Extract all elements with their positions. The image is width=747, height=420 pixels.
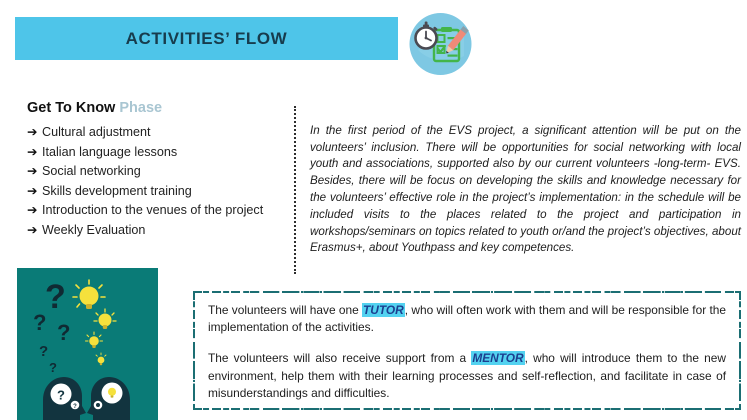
list-item-label: Italian language lessons xyxy=(42,143,177,163)
mentor-paragraph: The volunteers will also receive support… xyxy=(208,350,726,402)
mentor-term-highlight: MENTOR xyxy=(471,351,524,365)
thinking-heads-illustration: ? ? ? ? ? xyxy=(17,268,158,420)
svg-text:?: ? xyxy=(49,360,57,375)
list-item: ➔ Cultural adjustment xyxy=(27,123,292,143)
list-item-label: Skills development training xyxy=(42,182,192,202)
arrow-icon: ➔ xyxy=(27,201,42,221)
svg-text:?: ? xyxy=(73,404,77,410)
mentor-lead-text: The volunteers will also receive support… xyxy=(208,351,471,365)
arrow-icon: ➔ xyxy=(27,182,42,202)
list-item: ➔ Weekly Evaluation xyxy=(27,221,292,241)
list-item-label: Weekly Evaluation xyxy=(42,221,145,241)
arrow-icon: ➔ xyxy=(27,143,42,163)
tutor-lead-text: The volunteers will have one xyxy=(208,303,362,317)
svg-text:?: ? xyxy=(57,388,65,403)
stopwatch-checklist-pencil-icon xyxy=(404,6,477,79)
phase-heading: Get To Know Phase xyxy=(27,100,292,117)
description-block: In the first period of the EVS project, … xyxy=(294,106,741,274)
list-item-label: Cultural adjustment xyxy=(42,123,151,143)
description-text: In the first period of the EVS project, … xyxy=(310,123,741,257)
list-item: ➔ Italian language lessons xyxy=(27,143,292,163)
arrow-icon: ➔ xyxy=(27,123,42,143)
list-item: ➔ Social networking xyxy=(27,162,292,182)
activities-list: ➔ Cultural adjustment ➔ Italian language… xyxy=(27,123,292,240)
tutor-paragraph: The volunteers will have one TUTOR, who … xyxy=(208,302,726,336)
phase-heading-primary: Get To Know xyxy=(27,100,115,116)
arrow-icon: ➔ xyxy=(27,162,42,182)
svg-text:?: ? xyxy=(45,278,66,316)
title-banner: ACTIVITIES’ FLOW xyxy=(15,17,398,60)
tutor-term-highlight: TUTOR xyxy=(362,303,405,317)
phase-heading-secondary: Phase xyxy=(119,100,162,116)
roles-box: The volunteers will have one TUTOR, who … xyxy=(193,291,741,410)
svg-text:?: ? xyxy=(57,320,70,345)
arrow-icon: ➔ xyxy=(27,221,42,241)
get-to-know-phase-block: Get To Know Phase ➔ Cultural adjustment … xyxy=(27,100,292,240)
list-item: ➔ Introduction to the venues of the proj… xyxy=(27,201,292,221)
svg-text:?: ? xyxy=(33,310,46,335)
svg-text:?: ? xyxy=(39,343,48,360)
list-item-label: Introduction to the venues of the projec… xyxy=(42,201,263,221)
page-title: ACTIVITIES’ FLOW xyxy=(126,29,288,49)
list-item-label: Social networking xyxy=(42,162,141,182)
list-item: ➔ Skills development training xyxy=(27,182,292,202)
